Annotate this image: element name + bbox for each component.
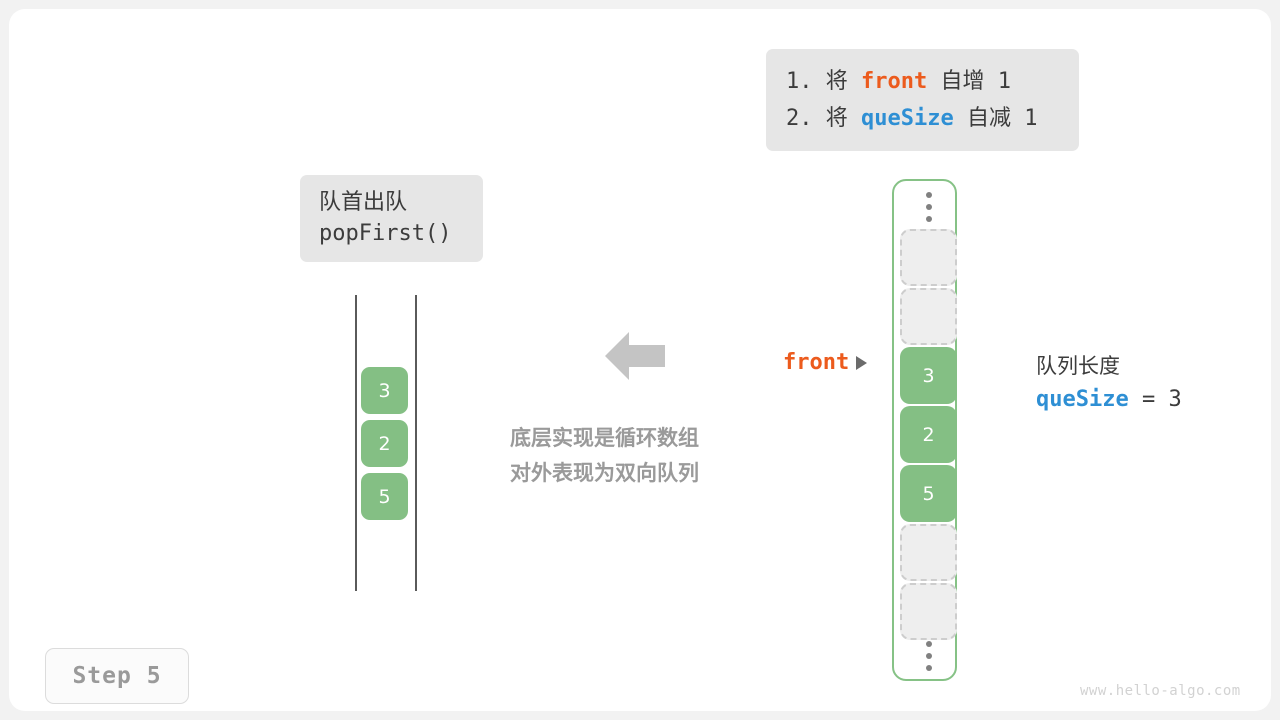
watermark: www.hello-algo.com bbox=[1080, 683, 1241, 699]
array-slot-filled: 5 bbox=[900, 465, 957, 522]
deque-cell: 5 bbox=[361, 473, 408, 520]
step-badge-label: Step 5 bbox=[72, 663, 161, 689]
array-slot-empty bbox=[900, 524, 957, 581]
quesize-title: 队列长度 bbox=[1036, 350, 1182, 382]
instruction-line-2-suffix: 自减 1 bbox=[954, 106, 1038, 131]
operation-label-box: 队首出队 popFirst() bbox=[300, 175, 483, 262]
page-background: 1. 将 front 自增 1 2. 将 queSize 自减 1 队首出队 p… bbox=[0, 0, 1280, 720]
operation-method-name: popFirst() bbox=[319, 218, 483, 249]
quesize-annotation: 队列长度 queSize = 3 bbox=[1036, 350, 1182, 418]
array-slot-empty bbox=[900, 288, 957, 345]
step-badge: Step 5 bbox=[45, 648, 189, 704]
vertical-dots-icon-top bbox=[900, 187, 957, 227]
center-annotation: 底层实现是循环数组 对外表现为双向队列 bbox=[510, 421, 760, 491]
quesize-value-line: queSize = 3 bbox=[1036, 382, 1182, 418]
array-slot-empty bbox=[900, 229, 957, 286]
instruction-line-1-prefix: 将 bbox=[813, 69, 862, 94]
instruction-line-1-suffix: 自增 1 bbox=[927, 69, 1011, 94]
operation-title: 队首出队 bbox=[319, 187, 483, 218]
deque-cell: 3 bbox=[361, 367, 408, 414]
array-slot-filled: 3 bbox=[900, 347, 957, 404]
triangle-right-icon bbox=[856, 356, 867, 370]
instruction-line-1: 1. 将 front 自增 1 bbox=[786, 63, 1059, 100]
front-pointer: front bbox=[783, 350, 867, 375]
center-annotation-line-2: 对外表现为双向队列 bbox=[510, 456, 760, 491]
quesize-var-name: queSize bbox=[1036, 387, 1129, 412]
deque-rail-left bbox=[355, 295, 357, 591]
instruction-line-2: 2. 将 queSize 自减 1 bbox=[786, 100, 1059, 137]
instruction-line-2-keyword: queSize bbox=[861, 106, 954, 131]
vertical-dots-icon-bottom bbox=[900, 636, 957, 676]
transfer-arrow-left-icon bbox=[605, 329, 665, 383]
instruction-line-2-index: 2. bbox=[786, 106, 813, 131]
center-annotation-line-1: 底层实现是循环数组 bbox=[510, 421, 760, 456]
circular-array-container: 3 2 5 bbox=[892, 179, 957, 681]
instruction-box: 1. 将 front 自增 1 2. 将 queSize 自减 1 bbox=[766, 49, 1079, 151]
diagram-card: 1. 将 front 自增 1 2. 将 queSize 自减 1 队首出队 p… bbox=[9, 9, 1271, 711]
deque-rail-right bbox=[415, 295, 417, 591]
quesize-equals-value: = 3 bbox=[1129, 387, 1182, 412]
instruction-line-2-prefix: 将 bbox=[813, 106, 862, 131]
array-slot-filled: 2 bbox=[900, 406, 957, 463]
array-slot-empty bbox=[900, 583, 957, 640]
front-pointer-label: front bbox=[783, 350, 849, 375]
instruction-line-1-index: 1. bbox=[786, 69, 813, 94]
deque-cell: 2 bbox=[361, 420, 408, 467]
instruction-line-1-keyword: front bbox=[861, 69, 927, 94]
